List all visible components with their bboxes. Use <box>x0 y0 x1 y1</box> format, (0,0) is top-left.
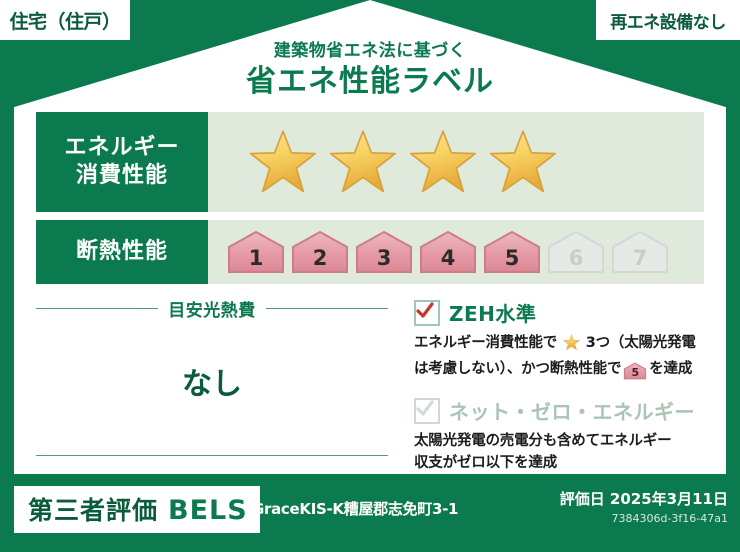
house-level-value: 5 <box>623 362 647 383</box>
check-icon-disabled <box>414 398 440 424</box>
performance-rows: エネルギー 消費性能 <box>36 112 704 292</box>
insulation-label-text: 断熱性能 <box>76 238 168 266</box>
evaluation-info: 評価日 2025年3月11日 7384306d-3f16-47a1 <box>560 488 728 525</box>
zeh-criterion: ZEH水準 エネルギー消費性能で 3つ（太陽光発電 は考慮しない）、かつ断熱性能… <box>414 298 704 380</box>
zeh-desc-part1: エネルギー消費性能で <box>414 335 557 351</box>
evaluation-date: 評価日 2025年3月11日 <box>560 488 728 509</box>
star-icon <box>408 128 478 196</box>
energy-performance-row: エネルギー 消費性能 <box>36 112 704 212</box>
renewable-equipment-badge: 再エネ設備なし <box>596 0 740 40</box>
label-title-block: 建築物省エネ法に基づく 省エネ性能ラベル <box>0 42 740 100</box>
zeh-heading: ZEH水準 <box>414 298 704 327</box>
utility-cost-value: なし <box>36 359 388 403</box>
heading-rule-right <box>266 308 388 309</box>
insulation-rating: 1 2 3 <box>208 220 704 284</box>
utility-cost-section: 目安光熱費 なし <box>36 296 388 474</box>
bels-en-label: BELS <box>168 495 248 526</box>
house-level-value: 4 <box>441 246 456 275</box>
label-footer: 第三者評価 BELS GraceKIS-K糟屋郡志免町3-1 評価日 2025年… <box>0 474 740 552</box>
house-level-value: 7 <box>633 246 648 275</box>
house-level-badge-inactive: 6 <box>546 229 606 275</box>
house-level-badge: 5 <box>482 229 542 275</box>
netzero-criterion: ネット・ゼロ・エネルギー 太陽光発電の売電分も含めてエネルギー 収支がゼロ以下を… <box>414 396 704 474</box>
house-level-badge-inactive: 7 <box>610 229 670 275</box>
house-level-value: 3 <box>377 246 392 275</box>
bels-plate: 第三者評価 BELS <box>14 486 260 533</box>
star-icon <box>328 128 398 196</box>
zeh-description: エネルギー消費性能で 3つ（太陽光発電 は考慮しない）、かつ断熱性能で 5 を達… <box>414 332 704 380</box>
building-name: GraceKIS-K糟屋郡志免町3-1 <box>252 498 458 519</box>
building-type-label: 住宅（住戸） <box>9 7 120 34</box>
netzero-description: 太陽光発電の売電分も含めてエネルギー 収支がゼロ以下を達成 <box>414 430 704 474</box>
heading-rule-left <box>36 308 158 309</box>
utility-cost-heading-text: 目安光熱費 <box>168 296 256 321</box>
energy-star-rating <box>208 112 704 212</box>
lower-section: 目安光熱費 なし ZEH水準 エネルギー消費性能で <box>36 296 704 474</box>
netzero-title: ネット・ゼロ・エネルギー <box>449 396 695 425</box>
energy-label-line2: 消費性能 <box>76 162 168 190</box>
netzero-desc-line2: 収支がゼロ以下を達成 <box>414 455 557 471</box>
zeh-desc-part3: を達成 <box>649 361 692 377</box>
netzero-desc-line1: 太陽光発電の売電分も含めてエネルギー <box>414 433 671 449</box>
house-level-value: 2 <box>313 246 328 275</box>
insulation-performance-row: 断熱性能 <box>36 220 704 284</box>
energy-label-line1: エネルギー <box>64 134 179 162</box>
zeh-desc-star-count: 3つ（太陽光発電 <box>586 335 696 351</box>
star-icon <box>558 339 585 355</box>
title-main: 省エネ性能ラベル <box>0 63 740 101</box>
house-level-badge: 4 <box>418 229 478 275</box>
house-level-badge: 2 <box>290 229 350 275</box>
utility-cost-bottom-rule <box>36 455 388 456</box>
house-level-value: 5 <box>505 246 520 275</box>
criteria-section: ZEH水準 エネルギー消費性能で 3つ（太陽光発電 は考慮しない）、かつ断熱性能… <box>388 296 704 474</box>
house-level-value: 1 <box>249 246 264 275</box>
zeh-desc-part2: は考慮しない）、かつ断熱性能で <box>414 361 621 377</box>
renewable-equipment-label: 再エネ設備なし <box>610 8 726 33</box>
bels-jp-label: 第三者評価 <box>28 491 158 527</box>
building-type-badge: 住宅（住戸） <box>0 0 130 40</box>
netzero-heading: ネット・ゼロ・エネルギー <box>414 396 704 425</box>
insulation-performance-label: 断熱性能 <box>36 220 208 284</box>
energy-performance-label: 住宅（住戸） 再エネ設備なし 建築物省エネ法に基づく 省エネ性能ラベル エネルギ… <box>0 0 740 552</box>
evaluation-id: 7384306d-3f16-47a1 <box>560 512 728 525</box>
energy-performance-label: エネルギー 消費性能 <box>36 112 208 212</box>
title-subtitle: 建築物省エネ法に基づく <box>0 42 740 61</box>
house-level-value: 6 <box>569 246 584 275</box>
star-icon <box>248 128 318 196</box>
house-level-badge-inline: 5 <box>623 362 647 380</box>
check-icon <box>414 300 440 326</box>
house-level-badge: 1 <box>226 229 286 275</box>
star-icon <box>488 128 558 196</box>
house-level-badge: 3 <box>354 229 414 275</box>
utility-cost-heading: 目安光熱費 <box>36 296 388 321</box>
zeh-title: ZEH水準 <box>449 298 536 327</box>
